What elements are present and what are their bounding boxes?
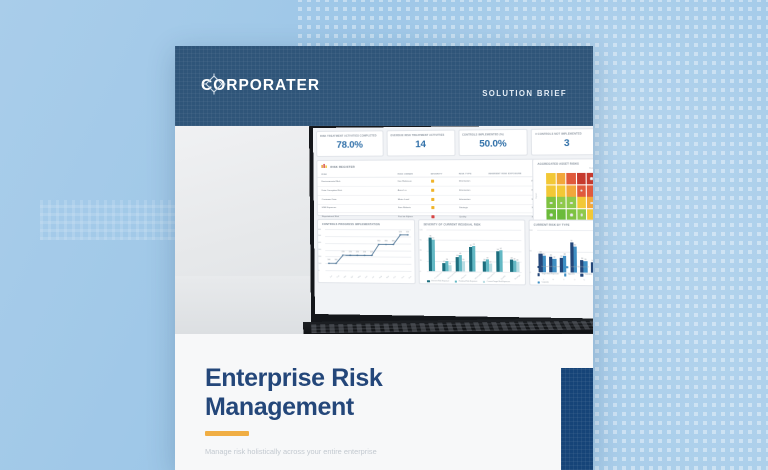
risk-register-title: RISK REGISTER [330, 164, 355, 168]
heatmap-cell[interactable] [566, 185, 576, 196]
cell-risk: HSE Exposure [318, 204, 394, 213]
kpi-label: OVERDUE RISK TREATMENT ACTIVITIES [387, 131, 454, 138]
data-label: 46 [459, 253, 461, 255]
legend-swatch [455, 280, 458, 283]
heatmap-cell[interactable] [577, 185, 587, 196]
chart-row: CONTROLS PROGRESS IMPLEMENTATION 6005004… [317, 219, 593, 286]
data-label: 74 [473, 244, 475, 246]
data-label: 38 [564, 254, 566, 256]
document-header: CORPORATER SOLUTION BRIEF [175, 46, 593, 126]
legend-swatch [580, 274, 583, 277]
heatmap-cell[interactable] [546, 173, 556, 184]
x-tick-label: Information [474, 273, 482, 281]
severity-dot [431, 206, 434, 209]
line-plot-area: 6005004003002001000JanFebMarAprMayJunJul… [325, 229, 412, 271]
kpi-row: RISK TREATMENT ACTIVITIES COMPLETED 78.0… [316, 128, 593, 157]
kpi-label: RISK TREATMENT ACTIVITIES COMPLETED [317, 131, 382, 138]
cell-risk: Environmental Risk [318, 177, 394, 186]
x-tick-label: Apr [350, 276, 353, 279]
logo-wordmark: CORPORATER [201, 78, 320, 94]
legend-label: Inherent Risk Exposure [541, 266, 560, 268]
bar[interactable] [432, 239, 435, 271]
data-label: 380 [392, 241, 395, 243]
chart-title: CONTROLS PROGRESS IMPLEMENTATION [318, 220, 414, 228]
data-label: 18 [449, 263, 451, 265]
data-label: 40 [543, 253, 545, 255]
legend-item[interactable]: Tolerance [580, 274, 592, 277]
line-series [325, 229, 412, 271]
severity-dot [431, 189, 434, 192]
x-tick-label: Oct [394, 276, 397, 279]
y-tick-label: 400 [318, 242, 321, 244]
kpi-card-treatment-completed[interactable]: RISK TREATMENT ACTIVITIES COMPLETED 78.0… [316, 130, 383, 157]
heatmap-marker [580, 189, 583, 192]
cell-severity [427, 204, 455, 213]
bar[interactable] [489, 264, 492, 272]
heatmap-cell[interactable] [556, 197, 566, 208]
bar-plot-area: 1209060300ComplianceEnvironmentalFinance… [427, 229, 522, 272]
y-tick-label: 0 [318, 270, 319, 272]
legend-label: Inherent Risk Exposure [431, 280, 449, 282]
y-tick-label: 500 [318, 235, 321, 237]
laptop-screen: RISK TREATMENT ACTIVITIES COMPLETED 78.0… [313, 126, 593, 319]
data-label: 34 [486, 258, 488, 260]
y-tick-label: 50 [530, 250, 532, 252]
severity-dot [431, 198, 434, 201]
page-title: Enterprise Risk Management [205, 364, 505, 422]
data-label: 24 [591, 260, 593, 262]
kpi-card-controls-implemented[interactable]: CONTROLS IMPLEMENTED (%) 50.0% [458, 129, 528, 156]
y-tick-label: 600 [318, 229, 321, 231]
cell-severity [427, 195, 455, 204]
cell-type: Information [455, 186, 485, 195]
heatmap-cell[interactable] [556, 185, 566, 196]
legend-label: Tolerance [585, 274, 593, 276]
legend-label: Target Risk Exposure [542, 273, 559, 275]
y-tick-label: 30 [420, 260, 422, 262]
data-label: 220 [356, 252, 359, 254]
risk-dashboard: RISK TREATMENT ACTIVITIES COMPLETED 78.0… [313, 126, 593, 319]
data-label: 100 [334, 260, 337, 262]
x-tick-label: Feb [336, 275, 340, 279]
data-label: 220 [342, 251, 345, 253]
heatmap-marker [580, 214, 583, 217]
x-tick-label: Dec [408, 276, 412, 280]
legend-label: Capacity [542, 281, 549, 283]
heatmap-cell[interactable] [587, 185, 593, 197]
heatmap-cell[interactable] [576, 173, 586, 184]
y-tick-label: 100 [318, 263, 321, 265]
data-label: 26 [584, 259, 586, 261]
cell-risk: Customer Data [318, 195, 394, 204]
heatmap-marker [570, 214, 573, 217]
y-tick-label: 0 [530, 272, 531, 274]
heatmap-marker [590, 177, 593, 180]
corporater-logo: CORPORATER [201, 78, 320, 94]
data-label: 520 [399, 231, 402, 233]
gridline [537, 230, 593, 231]
legend-item[interactable]: Target Risk Exposure [537, 273, 558, 276]
heatmap-title: AGGREGATED ASSET RISKS [533, 159, 593, 167]
legend-swatch [537, 273, 540, 276]
chart-legend[interactable]: Inherent Risk ExposureResidual Risk Expo… [537, 265, 593, 284]
x-tick-label: Jun [365, 276, 369, 279]
cell-type: Strategic [455, 204, 485, 213]
y-tick-label: 60 [420, 250, 422, 252]
data-label: 520 [406, 231, 409, 233]
kpi-label: # CONTROLS NOT IMPLEMENTED [532, 129, 593, 136]
heatmap-cell[interactable] [556, 173, 566, 184]
heatmap-cell[interactable] [566, 173, 576, 184]
severity-dot [431, 215, 434, 218]
y-tick-label: 0 [420, 271, 421, 273]
heatmap-cell[interactable] [546, 185, 556, 196]
kpi-value: 3 [532, 138, 593, 150]
y-tick-label: 90 [420, 239, 422, 241]
bar[interactable] [499, 250, 502, 272]
cell-owner: Dan Robinson [393, 177, 426, 186]
legend-item[interactable]: Appetite [564, 273, 575, 276]
page-subtitle: Manage risk holistically across your ent… [205, 446, 535, 458]
legend-label: Appetite [568, 274, 575, 276]
heatmap-cell[interactable] [587, 173, 593, 185]
x-tick-label: Jan [329, 275, 332, 278]
data-label: 30 [516, 259, 518, 261]
cell-owner: Maria Lund [394, 195, 427, 204]
severity-dot [431, 180, 434, 183]
laptop-keyboard [303, 318, 593, 334]
legend-item[interactable]: Current Target Risk Exposure [483, 280, 510, 283]
data-label: 30 [581, 258, 583, 260]
y-tick-label: 100 [529, 229, 532, 231]
cell-type: Information [455, 177, 485, 186]
data-label: 32 [553, 257, 555, 259]
data-label: 44 [539, 251, 541, 253]
heatmap-cell[interactable] [567, 197, 577, 208]
kpi-value: 50.0% [459, 138, 527, 150]
severity-residual-risk-chart[interactable]: SEVERITY OF CURRENT RESIDUAL RISK 120906… [418, 219, 526, 285]
x-tick-label: May [358, 275, 362, 279]
heatmap-marker [550, 214, 553, 217]
data-label: 92 [432, 237, 434, 239]
kpi-value: 14 [387, 139, 454, 151]
legend-swatch [564, 273, 567, 276]
data-label: 32 [513, 259, 515, 261]
cell-severity [427, 186, 455, 195]
y-tick-label: 200 [318, 256, 321, 258]
bar[interactable] [472, 246, 475, 272]
cell-risk: Data Corruption Risk [318, 186, 394, 195]
cell-owner: Sam Roberts [394, 204, 427, 213]
y-tick-label: 120 [419, 229, 422, 231]
bar[interactable] [448, 265, 451, 271]
legend-label: Residual Risk Exposure [570, 266, 589, 268]
x-tick-label: Strategic [515, 274, 522, 280]
kpi-card-overdue-activities[interactable]: OVERDUE RISK TREATMENT ACTIVITIES 14 [386, 130, 455, 157]
heatmap-y-label: Impact [536, 193, 538, 199]
heatmap-cell[interactable] [577, 197, 587, 208]
chart-legend[interactable]: Inherent Risk ExposureResidual Risk Expo… [427, 280, 510, 283]
data-label: 62 [500, 248, 502, 250]
x-tick-label: Environmental [447, 271, 457, 280]
chart-title: SEVERITY OF CURRENT RESIDUAL RISK [419, 220, 524, 228]
heatmap-top-label: Risk [589, 168, 593, 170]
gridline [427, 240, 521, 241]
bar[interactable] [516, 261, 519, 272]
data-label: 28 [446, 259, 448, 261]
legend-swatch [537, 265, 540, 268]
legend-swatch [427, 280, 430, 283]
kpi-value: 78.0% [317, 140, 382, 152]
x-tick-label: Compliance [434, 272, 443, 280]
data-label: 380 [377, 241, 380, 243]
data-label: 220 [363, 252, 366, 254]
data-label: 70 [570, 241, 572, 243]
data-label: 380 [384, 241, 387, 243]
data-label: 220 [370, 252, 373, 254]
background-dot-grid-left [40, 200, 190, 240]
legend-item[interactable]: Inherent Risk Exposure [427, 280, 449, 283]
legend-item[interactable]: Residual Risk Exposure [566, 266, 590, 269]
legend-label: Residual Risk Exposure [459, 280, 478, 282]
title-accent-rule [205, 431, 249, 436]
current-risk-by-type-chart[interactable]: CURRENT RISK BY TYPE 100500ABCDEF4440363… [528, 220, 593, 287]
x-tick-label: Mar [343, 275, 347, 279]
heatmap-marker [560, 201, 563, 204]
data-label: 30 [462, 259, 464, 261]
cell-type: Information [455, 195, 485, 204]
heatmap-cell[interactable] [587, 197, 593, 208]
cell-severity [426, 177, 454, 186]
legend-item[interactable]: Residual Risk Exposure [455, 280, 478, 283]
x-tick-label: Aug [379, 276, 383, 280]
data-label: 220 [349, 252, 352, 254]
gridline [537, 251, 593, 252]
laptop-photo: RISK TREATMENT ACTIVITIES COMPLETED 78.0… [175, 126, 593, 334]
heatmap-cell[interactable] [546, 197, 556, 208]
document-content: Enterprise Risk Management Manage risk h… [175, 334, 593, 470]
controls-progress-chart[interactable]: CONTROLS PROGRESS IMPLEMENTATION 6005004… [317, 219, 416, 284]
kpi-label: CONTROLS IMPLEMENTED (%) [459, 130, 527, 137]
heatmap-marker [590, 201, 593, 204]
kpi-card-controls-not-implemented[interactable]: # CONTROLS NOT IMPLEMENTED 3 [531, 128, 593, 156]
data-label: 22 [489, 262, 491, 264]
chart-title: CURRENT RISK BY TYPE [529, 221, 593, 229]
legend-item[interactable]: Capacity [537, 281, 548, 284]
heatmap-marker [550, 201, 553, 204]
legend-item[interactable]: Inherent Risk Exposure [537, 265, 560, 268]
x-tick-label: Sep [386, 276, 390, 280]
solution-brief-label: SOLUTION BRIEF [482, 89, 567, 98]
data-label: 62 [574, 244, 576, 246]
bar[interactable] [462, 261, 465, 271]
legend-swatch [566, 266, 569, 269]
x-tick-label: Nov [401, 276, 405, 280]
gridline [427, 229, 521, 230]
data-label: 36 [550, 255, 552, 257]
x-tick-label: Operational [488, 273, 497, 281]
navy-accent-block [561, 368, 593, 470]
y-tick-label: 300 [318, 249, 321, 251]
legend-swatch [483, 280, 486, 283]
x-tick-label: Jul [372, 276, 375, 279]
data-label: 96 [429, 236, 431, 238]
cell-owner: Anne Liu [394, 186, 427, 195]
legend-swatch [537, 281, 540, 284]
data-label: 34 [510, 258, 512, 260]
risk-register-icon [321, 164, 327, 169]
heatmap-grid[interactable] [546, 173, 593, 221]
heatmap-marker [570, 201, 573, 204]
data-label: 100 [327, 260, 330, 262]
document-page: CORPORATER SOLUTION BRIEF RISK TREATMENT… [175, 46, 593, 470]
legend-label: Current Target Risk Exposure [487, 281, 510, 283]
